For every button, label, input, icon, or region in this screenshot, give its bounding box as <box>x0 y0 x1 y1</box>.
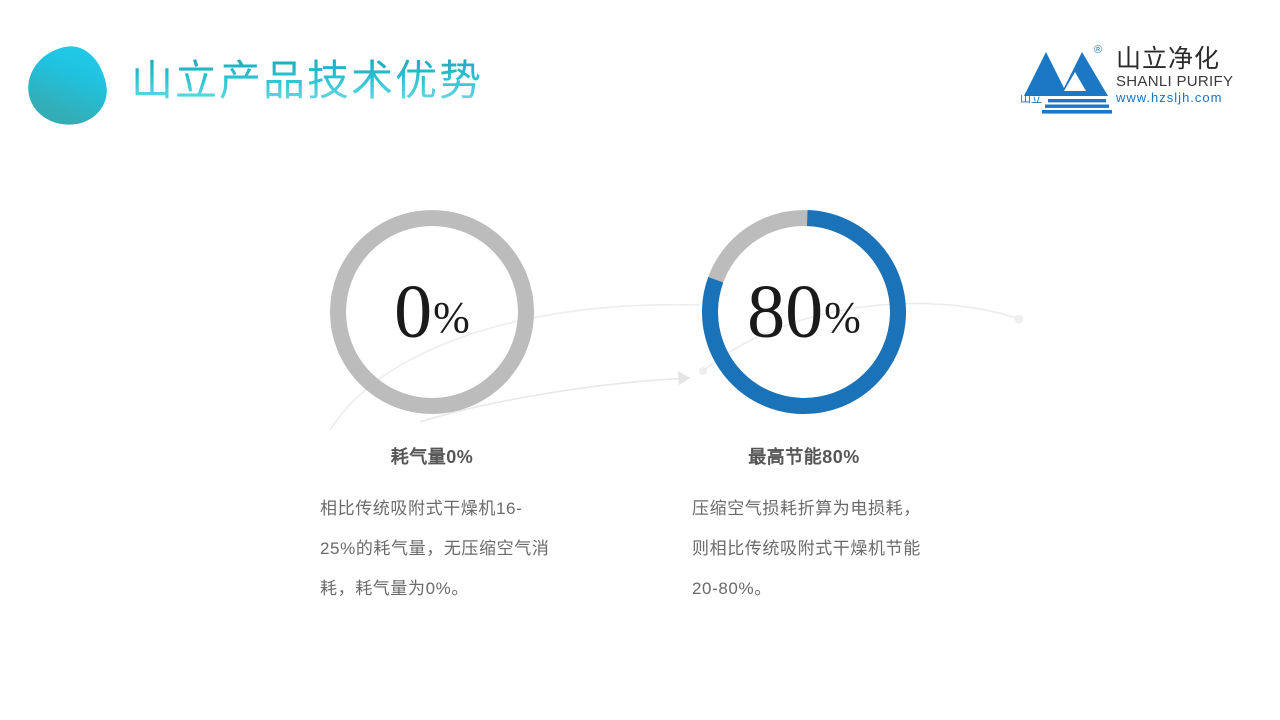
stat-card: 0 % 耗气量0% 相比传统吸附式干燥机16-25%的耗气量，无压缩空气消耗，耗… <box>306 205 558 609</box>
stat-card: 80 % 最高节能80% 压缩空气损耗折算为电损耗，则相比传统吸附式干燥机节能2… <box>678 205 930 609</box>
stat-card-title: 耗气量0% <box>306 443 558 469</box>
stat-value: 80 <box>747 274 823 350</box>
stat-unit: % <box>433 296 470 340</box>
logo-company-cn: 山立净化 <box>1116 46 1248 73</box>
progress-ring-value: 80 % <box>697 205 911 419</box>
stat-value: 0 <box>394 274 432 350</box>
registered-trademark-icon: ® <box>1094 44 1102 56</box>
slide-header: 山立产品技术优势 ® 山立 山立净化 SHANLI PURIFY www.hzs… <box>0 0 1280 150</box>
logo-company-en: SHANLI PURIFY <box>1116 73 1248 90</box>
progress-ring-value: 0 % <box>325 205 539 419</box>
progress-ring: 0 % <box>325 205 539 419</box>
decorative-blob-icon <box>23 42 111 130</box>
stat-card-description: 相比传统吸附式干燥机16-25%的耗气量，无压缩空气消耗，耗气量为0%。 <box>306 489 558 609</box>
stat-card-title: 最高节能80% <box>678 443 930 469</box>
logo-text-block: 山立净化 SHANLI PURIFY www.hzsljh.com <box>1116 46 1248 106</box>
progress-ring: 80 % <box>697 205 911 419</box>
stat-card-description: 压缩空气损耗折算为电损耗，则相比传统吸附式干燥机节能20-80%。 <box>678 489 930 609</box>
stats-row: 0 % 耗气量0% 相比传统吸附式干燥机16-25%的耗气量，无压缩空气消耗，耗… <box>0 205 1280 665</box>
logo-mark-label: 山立 <box>1020 90 1042 106</box>
stat-unit: % <box>824 296 861 340</box>
logo-website: www.hzsljh.com <box>1116 90 1248 106</box>
page-title: 山立产品技术优势 <box>131 56 483 108</box>
company-logo: ® 山立 山立净化 SHANLI PURIFY www.hzsljh.com <box>1020 42 1248 120</box>
